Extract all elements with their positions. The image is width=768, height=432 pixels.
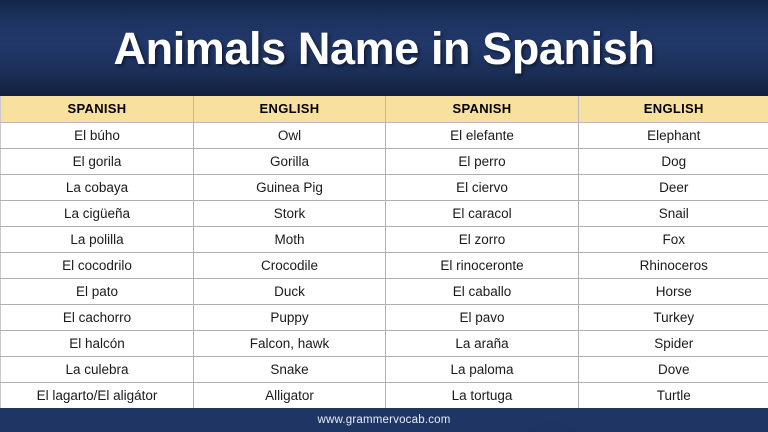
footer-website-url: www.grammervocab.com <box>317 414 450 426</box>
cell-english-right: Snail <box>579 200 768 226</box>
table-body: El búho Owl El elefante Elephant El gori… <box>1 122 768 408</box>
cell-english-left: Moth <box>194 226 386 252</box>
table-row: El pato Duck El caballo Horse <box>1 278 768 304</box>
table-header-row: SPANISH ENGLISH SPANISH ENGLISH <box>1 96 768 122</box>
column-header-spanish-1: SPANISH <box>1 96 194 122</box>
cell-spanish-right: El zorro <box>386 226 579 252</box>
table-row: La culebra Snake La paloma Dove <box>1 356 768 382</box>
cell-english-left: Puppy <box>194 304 386 330</box>
cell-english-left: Falcon, hawk <box>194 330 386 356</box>
column-header-spanish-2: SPANISH <box>386 96 579 122</box>
cell-english-right: Rhinoceros <box>579 252 768 278</box>
vocabulary-table-container: SPANISH ENGLISH SPANISH ENGLISH El búho … <box>0 96 768 408</box>
cell-spanish-left: La culebra <box>1 356 194 382</box>
page-title: Animals Name in Spanish <box>114 26 655 71</box>
cell-english-right: Horse <box>579 278 768 304</box>
cell-spanish-left: El cocodrilo <box>1 252 194 278</box>
cell-english-left: Guinea Pig <box>194 174 386 200</box>
table-row: El gorila Gorilla El perro Dog <box>1 148 768 174</box>
cell-spanish-right: El rinoceronte <box>386 252 579 278</box>
table-row: El cocodrilo Crocodile El rinoceronte Rh… <box>1 252 768 278</box>
table-row: La polilla Moth El zorro Fox <box>1 226 768 252</box>
cell-spanish-left: El pato <box>1 278 194 304</box>
cell-english-right: Fox <box>579 226 768 252</box>
table-row: El lagarto/El aligátor Alligator La tort… <box>1 382 768 408</box>
table-row: El cachorro Puppy El pavo Turkey <box>1 304 768 330</box>
cell-english-left: Duck <box>194 278 386 304</box>
cell-spanish-left: La cigüeña <box>1 200 194 226</box>
cell-spanish-left: El cachorro <box>1 304 194 330</box>
column-header-english-1: ENGLISH <box>194 96 386 122</box>
title-banner: Animals Name in Spanish <box>0 0 768 96</box>
cell-spanish-right: El elefante <box>386 122 579 148</box>
cell-spanish-left: El búho <box>1 122 194 148</box>
page-root: Animals Name in Spanish SPANISH ENGLISH … <box>0 0 768 432</box>
column-header-english-2: ENGLISH <box>579 96 768 122</box>
cell-spanish-left: El halcón <box>1 330 194 356</box>
cell-english-left: Crocodile <box>194 252 386 278</box>
cell-spanish-right: El pavo <box>386 304 579 330</box>
cell-english-left: Snake <box>194 356 386 382</box>
cell-spanish-right: El ciervo <box>386 174 579 200</box>
table-row: El búho Owl El elefante Elephant <box>1 122 768 148</box>
cell-spanish-right: La araña <box>386 330 579 356</box>
cell-english-right: Elephant <box>579 122 768 148</box>
cell-spanish-left: El lagarto/El aligátor <box>1 382 194 408</box>
cell-spanish-left: El gorila <box>1 148 194 174</box>
cell-english-right: Dog <box>579 148 768 174</box>
cell-english-left: Owl <box>194 122 386 148</box>
cell-english-right: Deer <box>579 174 768 200</box>
cell-spanish-right: El perro <box>386 148 579 174</box>
cell-english-right: Turkey <box>579 304 768 330</box>
vocabulary-table: SPANISH ENGLISH SPANISH ENGLISH El búho … <box>0 96 768 408</box>
table-row: El halcón Falcon, hawk La araña Spider <box>1 330 768 356</box>
cell-english-left: Gorilla <box>194 148 386 174</box>
cell-english-left: Alligator <box>194 382 386 408</box>
cell-english-right: Dove <box>579 356 768 382</box>
cell-spanish-right: La paloma <box>386 356 579 382</box>
cell-spanish-right: El caracol <box>386 200 579 226</box>
cell-spanish-right: La tortuga <box>386 382 579 408</box>
cell-english-left: Stork <box>194 200 386 226</box>
cell-spanish-left: La cobaya <box>1 174 194 200</box>
cell-english-right: Spider <box>579 330 768 356</box>
cell-spanish-right: El caballo <box>386 278 579 304</box>
cell-spanish-left: La polilla <box>1 226 194 252</box>
table-header: SPANISH ENGLISH SPANISH ENGLISH <box>1 96 768 122</box>
table-row: La cigüeña Stork El caracol Snail <box>1 200 768 226</box>
table-row: La cobaya Guinea Pig El ciervo Deer <box>1 174 768 200</box>
footer-bar: www.grammervocab.com <box>0 408 768 432</box>
cell-english-right: Turtle <box>579 382 768 408</box>
